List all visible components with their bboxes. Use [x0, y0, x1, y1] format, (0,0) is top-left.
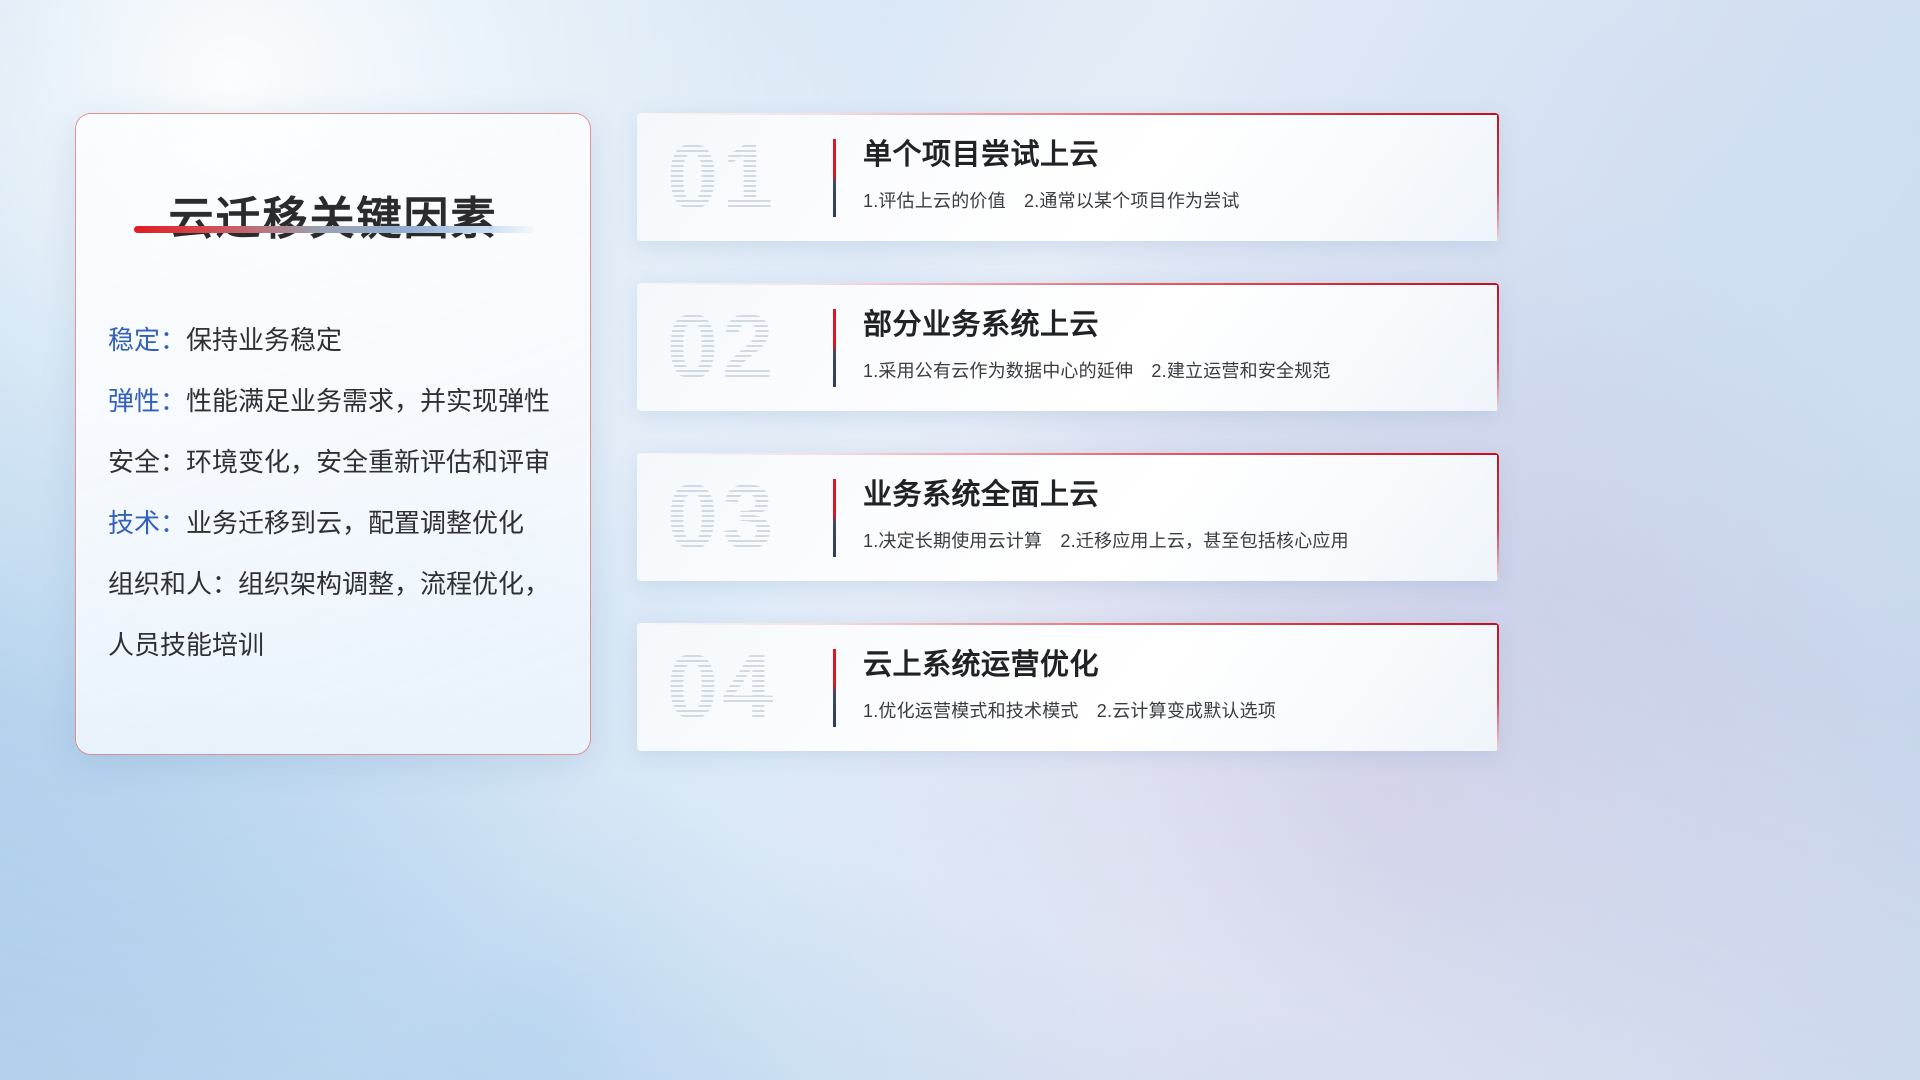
key-factors-list: 稳定：保持业务稳定 弹性：性能满足业务需求，并实现弹性 安全：环境变化，安全重新… — [108, 310, 570, 676]
stage-subtitle: 1.采用公有云作为数据中心的延伸 2.建立运营和安全规范 — [863, 357, 1479, 383]
list-item: 技术：业务迁移到云，配置调整优化 — [108, 493, 570, 554]
list-item-text: 组织架构调整，流程优化， — [238, 569, 550, 599]
migration-stage-cards: 01 单个项目尝试上云 1.评估上云的价值 2.通常以某个项目作为尝试 02 部… — [637, 113, 1499, 793]
stage-content: 单个项目尝试上云 1.评估上云的价值 2.通常以某个项目作为尝试 — [863, 131, 1479, 213]
list-item-label: 安全： — [108, 447, 186, 477]
stage-number: 04 — [667, 635, 827, 739]
stage-content: 云上系统运营优化 1.优化运营模式和技术模式 2.云计算变成默认选项 — [863, 641, 1479, 723]
key-factors-panel: 云迁移关键因素 稳定：保持业务稳定 弹性：性能满足业务需求，并实现弹性 安全：环… — [75, 113, 591, 755]
stage-content: 业务系统全面上云 1.决定长期使用云计算 2.迁移应用上云，甚至包括核心应用 — [863, 471, 1479, 553]
stage-card-01[interactable]: 01 单个项目尝试上云 1.评估上云的价值 2.通常以某个项目作为尝试 — [637, 113, 1499, 241]
stage-number: 03 — [667, 465, 827, 569]
list-item-text: 人员技能培训 — [108, 630, 264, 660]
stage-number: 02 — [667, 295, 827, 399]
list-item: 稳定：保持业务稳定 — [108, 310, 570, 371]
list-item-label: 稳定： — [108, 325, 186, 355]
stage-heading: 单个项目尝试上云 — [863, 131, 1479, 173]
list-item-label: 组织和人： — [108, 569, 238, 599]
list-item-text: 保持业务稳定 — [186, 325, 342, 355]
list-item-text: 性能满足业务需求，并实现弹性 — [186, 386, 550, 416]
list-item: 组织和人：组织架构调整，流程优化， — [108, 554, 570, 615]
list-item: 弹性：性能满足业务需求，并实现弹性 — [108, 371, 570, 432]
stage-accent-bar — [833, 139, 836, 217]
stage-card-04[interactable]: 04 云上系统运营优化 1.优化运营模式和技术模式 2.云计算变成默认选项 — [637, 623, 1499, 751]
list-item-label: 弹性： — [108, 386, 186, 416]
stage-number: 01 — [667, 125, 827, 229]
stage-accent-bar — [833, 649, 836, 727]
stage-subtitle: 1.评估上云的价值 2.通常以某个项目作为尝试 — [863, 187, 1479, 213]
list-item-continued: 人员技能培训 — [108, 615, 570, 676]
title-underline-accent — [134, 226, 534, 233]
stage-subtitle: 1.优化运营模式和技术模式 2.云计算变成默认选项 — [863, 697, 1479, 723]
stage-heading: 部分业务系统上云 — [863, 301, 1479, 343]
stage-accent-bar — [833, 479, 836, 557]
stage-content: 部分业务系统上云 1.采用公有云作为数据中心的延伸 2.建立运营和安全规范 — [863, 301, 1479, 383]
list-item-label: 技术： — [108, 508, 186, 538]
stage-card-03[interactable]: 03 业务系统全面上云 1.决定长期使用云计算 2.迁移应用上云，甚至包括核心应… — [637, 453, 1499, 581]
stage-heading: 云上系统运营优化 — [863, 641, 1479, 683]
list-item: 安全：环境变化，安全重新评估和评审 — [108, 432, 570, 493]
list-item-text: 环境变化，安全重新评估和评审 — [186, 447, 550, 477]
stage-heading: 业务系统全面上云 — [863, 471, 1479, 513]
stage-subtitle: 1.决定长期使用云计算 2.迁移应用上云，甚至包括核心应用 — [863, 527, 1479, 553]
stage-card-02[interactable]: 02 部分业务系统上云 1.采用公有云作为数据中心的延伸 2.建立运营和安全规范 — [637, 283, 1499, 411]
list-item-text: 业务迁移到云，配置调整优化 — [186, 508, 524, 538]
stage-accent-bar — [833, 309, 836, 387]
page-title: 云迁移关键因素 — [76, 182, 590, 247]
